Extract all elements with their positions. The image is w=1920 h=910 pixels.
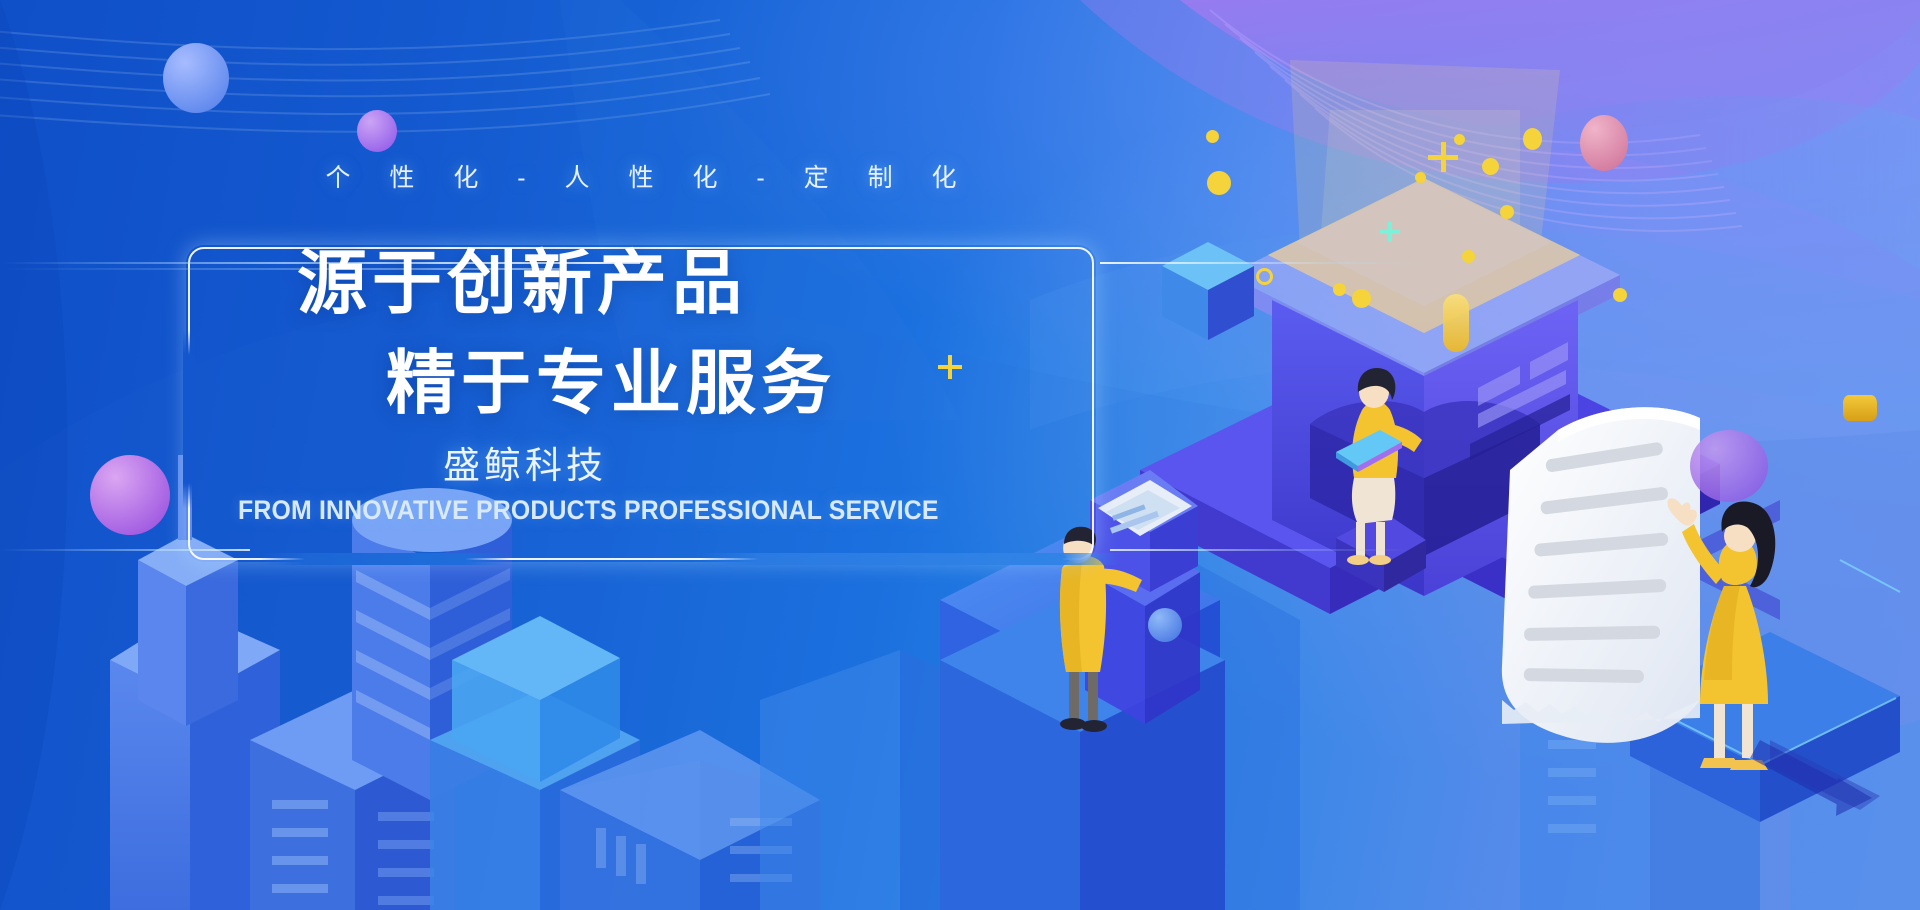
- dot-yellow-7: [1500, 205, 1514, 219]
- dot-yellow-2: [1454, 134, 1465, 145]
- purple-wave-shape: [1080, 0, 1920, 231]
- dot-yellow-4: [1415, 172, 1426, 183]
- sphere-pink: [1580, 115, 1628, 171]
- dot-yellow-6: [1207, 171, 1231, 195]
- arrow-decoration: [1660, 500, 1880, 810]
- long-printed-receipt: [1502, 407, 1700, 743]
- chevron-arrow-icon: [1750, 740, 1872, 816]
- hero-banner: 个 性 化 - 人 性 化 - 定 制 化 源于创新产品 精于专业服务 盛鲸科技…: [0, 0, 1920, 910]
- hero-text-block: 个 性 化 - 人 性 化 - 定 制 化 源于创新产品 精于专业服务 盛鲸科技…: [0, 0, 1200, 910]
- dot-yellow-11: [1613, 288, 1627, 302]
- english-subtitle: FROM INNOVATIVE PRODUCTS PROFESSIONAL SE…: [238, 495, 939, 526]
- tagline: 个 性 化 - 人 性 化 - 定 制 化: [188, 158, 1094, 194]
- plus-yellow-right-icon: [1428, 142, 1458, 172]
- woman-with-laptop-seated: [1336, 368, 1426, 592]
- headline-line-1: 源于创新产品: [297, 248, 747, 318]
- plus-cyan-icon: [1380, 222, 1400, 242]
- dot-yellow-3: [1482, 158, 1499, 175]
- dot-yellow-1: [1523, 128, 1542, 150]
- capsule-yellow-icon: [1443, 294, 1469, 352]
- company-name: 盛鲸科技: [443, 435, 607, 489]
- woman-receiving-document: [1667, 498, 1775, 770]
- ring-yellow-icon: [1256, 268, 1273, 285]
- headline-line-2: 精于专业服务: [386, 348, 836, 418]
- dot-yellow-5: [1206, 130, 1219, 143]
- dot-yellow-8: [1462, 250, 1475, 263]
- sphere-purple-right: [1690, 430, 1768, 502]
- isometric-printer-machine: [1228, 60, 1620, 596]
- dot-yellow-10: [1352, 289, 1371, 308]
- dot-yellow-9: [1333, 283, 1346, 296]
- cylinder-yellow-icon: [1843, 395, 1877, 421]
